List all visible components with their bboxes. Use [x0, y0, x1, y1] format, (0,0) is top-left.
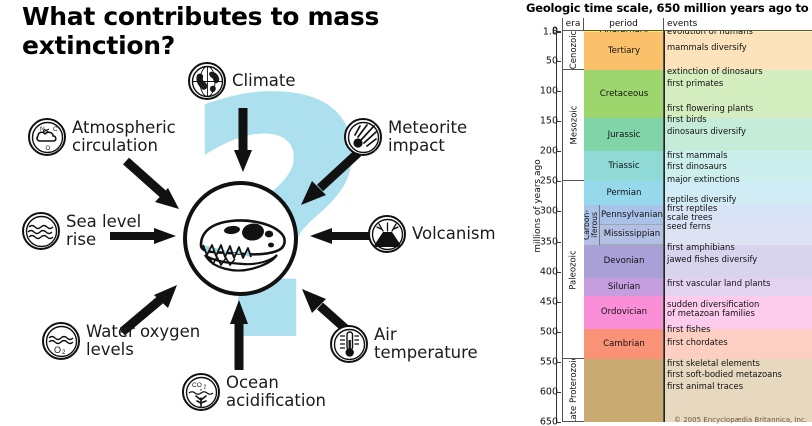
period-cell: Mississippian — [600, 225, 664, 244]
period-cell: Permian — [584, 181, 664, 205]
event-label: first primates — [667, 79, 723, 88]
period-column: QuaternaryTertiaryCretaceousJurassicTria… — [584, 31, 664, 422]
factor-volcanism-label: Volcanism — [412, 225, 496, 243]
event-label: first chordates — [667, 338, 728, 347]
period-cell — [584, 359, 664, 422]
y-tick-mark — [556, 121, 561, 122]
factor-air-temperature-label: Air temperature — [374, 326, 478, 362]
factor-ocean-acidification[interactable]: CO 2 Ocean acidification — [182, 373, 326, 411]
carboniferous-label-text: Carbon- iferous — [584, 210, 599, 240]
factor-sea-level-rise[interactable]: Sea level rise — [22, 212, 141, 250]
events-column: evolution of humansmammals diversifyexti… — [664, 31, 812, 422]
cloud-compass-icon: N C O — [28, 118, 66, 156]
period-cell: Pennsylvanian — [600, 205, 664, 225]
event-label: jawed fishes diversify — [667, 255, 757, 264]
event-label: first dinosaurs — [667, 162, 727, 171]
factor-water-oxygen-levels[interactable]: O 2 Water oxygen levels — [42, 322, 200, 360]
factor-ocean-acidification-label: Ocean acidification — [226, 374, 326, 410]
event-label: evolution of humans — [667, 31, 753, 36]
svg-text:C: C — [53, 126, 58, 133]
arrow-meteorite-to-center — [298, 150, 362, 208]
event-label: first fishes — [667, 325, 711, 334]
factor-climate-label: Climate — [232, 72, 296, 90]
event-label: seed ferns — [667, 222, 711, 231]
chart-title: Geologic time scale, 650 million years a… — [526, 1, 812, 15]
svg-text:O: O — [45, 146, 50, 152]
factor-water-oxygen-levels-label: Water oxygen levels — [86, 323, 200, 359]
event-label: first amphibians — [667, 243, 735, 252]
era-label: Cenozoic — [569, 31, 579, 69]
factor-atmospheric-circulation-label: Atmospheric circulation — [72, 119, 176, 155]
factor-climate[interactable]: Climate — [188, 62, 296, 100]
era-cell: Mesozoic — [563, 70, 585, 181]
carboniferous-group-label: Carbon- iferous — [584, 205, 600, 244]
globe-icon — [188, 62, 226, 100]
event-label: first soft-bodied metazoans — [667, 370, 782, 379]
y-tick-mark — [556, 242, 561, 243]
copyright-notice: © 2005 Encyclopædia Britannica, Inc. — [674, 416, 807, 424]
factor-meteorite-impact-label: Meteorite impact — [388, 119, 467, 155]
y-tick-mark — [556, 211, 561, 212]
period-cell: Cretaceous — [584, 70, 664, 118]
era-label: Late Proterozoic — [569, 359, 579, 422]
meteor-icon — [344, 118, 382, 156]
event-label: first vascular land plants — [667, 279, 770, 288]
geologic-time-scale-chart: Geologic time scale, 650 million years a… — [520, 0, 812, 426]
factor-sea-level-rise-label: Sea level rise — [66, 213, 141, 249]
y-axis: millions of years ago 01.850100150200250… — [524, 31, 562, 422]
arrow-atmospheric-to-center — [123, 158, 185, 214]
thermometer-icon — [330, 325, 368, 363]
period-cell: Jurassic — [584, 118, 664, 151]
y-tick-mark — [556, 422, 561, 423]
column-header-era: era — [562, 18, 584, 31]
event-label: major extinctions — [667, 175, 740, 184]
y-tick-mark — [556, 91, 561, 92]
co2-coral-icon: CO 2 — [182, 373, 220, 411]
era-cell: Paleozoic — [563, 181, 585, 358]
period-cell: Cambrian — [584, 329, 664, 359]
period-cell: Silurian — [584, 278, 664, 296]
waves-o2-icon: O 2 — [42, 322, 80, 360]
period-cell: Tertiary — [584, 32, 664, 70]
events-axis-line — [664, 31, 665, 422]
period-cell: Devonian — [584, 245, 664, 278]
arrow-climate-to-center — [233, 108, 255, 174]
factor-volcanism[interactable]: Volcanism — [368, 215, 496, 253]
era-column: CenozoicMesozoicPaleozoicLate Proterozoi… — [562, 31, 584, 422]
arrow-volcanism-to-center — [310, 226, 372, 246]
era-label: Mesozoic — [569, 106, 579, 145]
event-label: first animal traces — [667, 382, 743, 391]
column-header-events: events — [664, 18, 812, 31]
y-tick-mark — [556, 272, 561, 273]
y-tick-mark — [556, 392, 561, 393]
svg-text:CO: CO — [192, 382, 202, 389]
y-tick-mark — [556, 181, 561, 182]
era-cell: Cenozoic — [563, 31, 585, 70]
event-label: first flowering plants — [667, 104, 753, 113]
y-tick-mark — [556, 32, 561, 33]
event-label: sudden diversification of metazoan famil… — [667, 300, 759, 318]
arrow-ocean-acidification-to-center — [228, 300, 250, 370]
y-tick-mark — [556, 151, 561, 152]
event-label: first birds — [667, 115, 707, 124]
dinosaur-skull-icon — [183, 181, 298, 296]
y-tick-mark — [556, 362, 561, 363]
event-label: first skeletal elements — [667, 359, 760, 368]
waves-icon — [22, 212, 60, 250]
era-cell: Late Proterozoic — [563, 359, 585, 422]
event-label: first mammals — [667, 151, 727, 160]
y-tick-mark — [556, 302, 561, 303]
chart-frame: era period events millions of years ago … — [524, 18, 812, 422]
event-label: extinction of dinosaurs — [667, 67, 763, 76]
volcano-icon — [368, 215, 406, 253]
svg-text:O: O — [54, 345, 61, 355]
screenshot-root: What contributes to mass extinction? ? — [0, 0, 812, 426]
factor-meteorite-impact[interactable]: Meteorite impact — [344, 118, 467, 156]
era-label: Paleozoic — [569, 250, 579, 289]
y-tick-mark — [556, 61, 561, 62]
period-cell: Ordovician — [584, 296, 664, 329]
mass-extinction-infographic: What contributes to mass extinction? ? — [0, 0, 520, 426]
event-label: dinosaurs diversify — [667, 127, 746, 136]
factor-atmospheric-circulation[interactable]: N C O Atmospheric circulation — [28, 118, 176, 156]
event-label: mammals diversify — [667, 43, 747, 52]
column-header-period: period — [584, 18, 664, 31]
period-cell: Triassic — [584, 151, 664, 181]
svg-text:2: 2 — [203, 384, 206, 390]
factor-air-temperature[interactable]: Air temperature — [330, 325, 478, 363]
y-tick-mark — [556, 332, 561, 333]
